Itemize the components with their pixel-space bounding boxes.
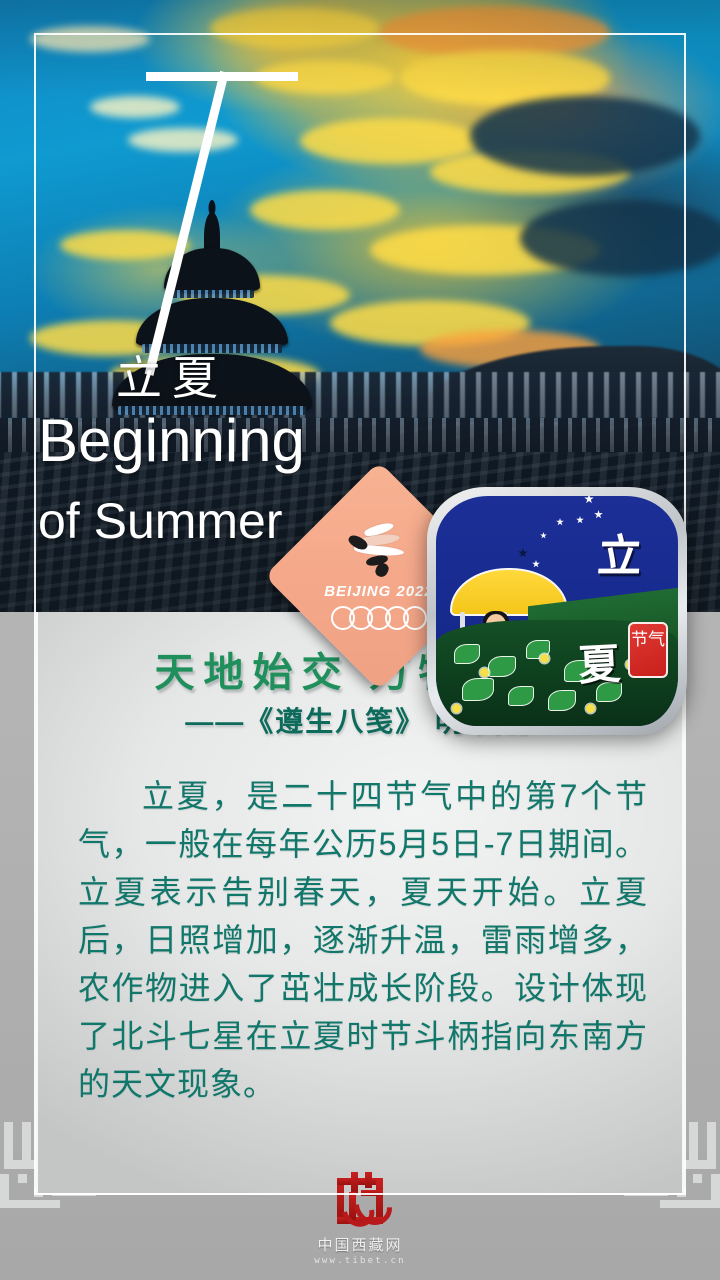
- medal-character-li: 立: [596, 520, 644, 584]
- body-paragraph: 立夏，是二十四节气中的第7个节气，一般在每年公历5月5日-7日期间。立夏表示告别…: [78, 772, 648, 1108]
- cloud: [255, 60, 395, 94]
- site-footer: 中国西藏网 www.tibet.cn: [0, 1172, 720, 1266]
- flower-icon: [540, 654, 549, 663]
- cloud: [128, 128, 238, 152]
- cloud: [30, 26, 150, 52]
- hero-title-english-2: of Summer: [38, 492, 283, 550]
- star-icon: [576, 516, 584, 524]
- leaf-icon: [462, 678, 494, 701]
- star-icon: [594, 510, 603, 519]
- leaf-icon: [488, 656, 516, 677]
- tibet-cn-logo-icon[interactable]: [331, 1172, 389, 1230]
- leaf-icon: [508, 686, 534, 706]
- solar-term-medal-badge: 立 The Beginning of Summer: [427, 487, 687, 735]
- star-icon: [540, 532, 547, 539]
- site-url-label[interactable]: www.tibet.cn: [0, 1256, 720, 1266]
- temple-roof-tier-1: [164, 248, 260, 294]
- medal-face: 立 The Beginning of Summer: [436, 496, 678, 726]
- medal-red-seal: 节气: [628, 622, 668, 678]
- star-icon: [518, 548, 528, 558]
- star-icon: [584, 496, 594, 504]
- hero-title-chinese: 立夏: [116, 342, 228, 408]
- olympic-wordmark: BEIJING 2022: [324, 583, 434, 600]
- leaf-icon: [548, 690, 576, 711]
- medal-character-xia: 夏: [576, 630, 621, 693]
- solar-term-poster: 7 立夏 Beginning of Summer 天地始交 万物并秀 ——《遵生…: [0, 0, 720, 1280]
- cloud: [470, 96, 700, 176]
- cloud: [210, 8, 380, 48]
- star-icon: [556, 518, 564, 526]
- flower-icon: [586, 704, 595, 713]
- flower-icon: [452, 704, 461, 713]
- cloud: [520, 200, 720, 276]
- olympic-rings-icon: [331, 606, 427, 630]
- beijing-2022-emblem-icon: [342, 523, 416, 579]
- temple-band-1: [170, 290, 254, 298]
- star-icon: [532, 560, 540, 568]
- site-name: 中国西藏网: [0, 1234, 720, 1255]
- cloud: [90, 96, 180, 118]
- leaf-icon: [454, 644, 480, 664]
- hero-title-english-1: Beginning: [38, 406, 305, 475]
